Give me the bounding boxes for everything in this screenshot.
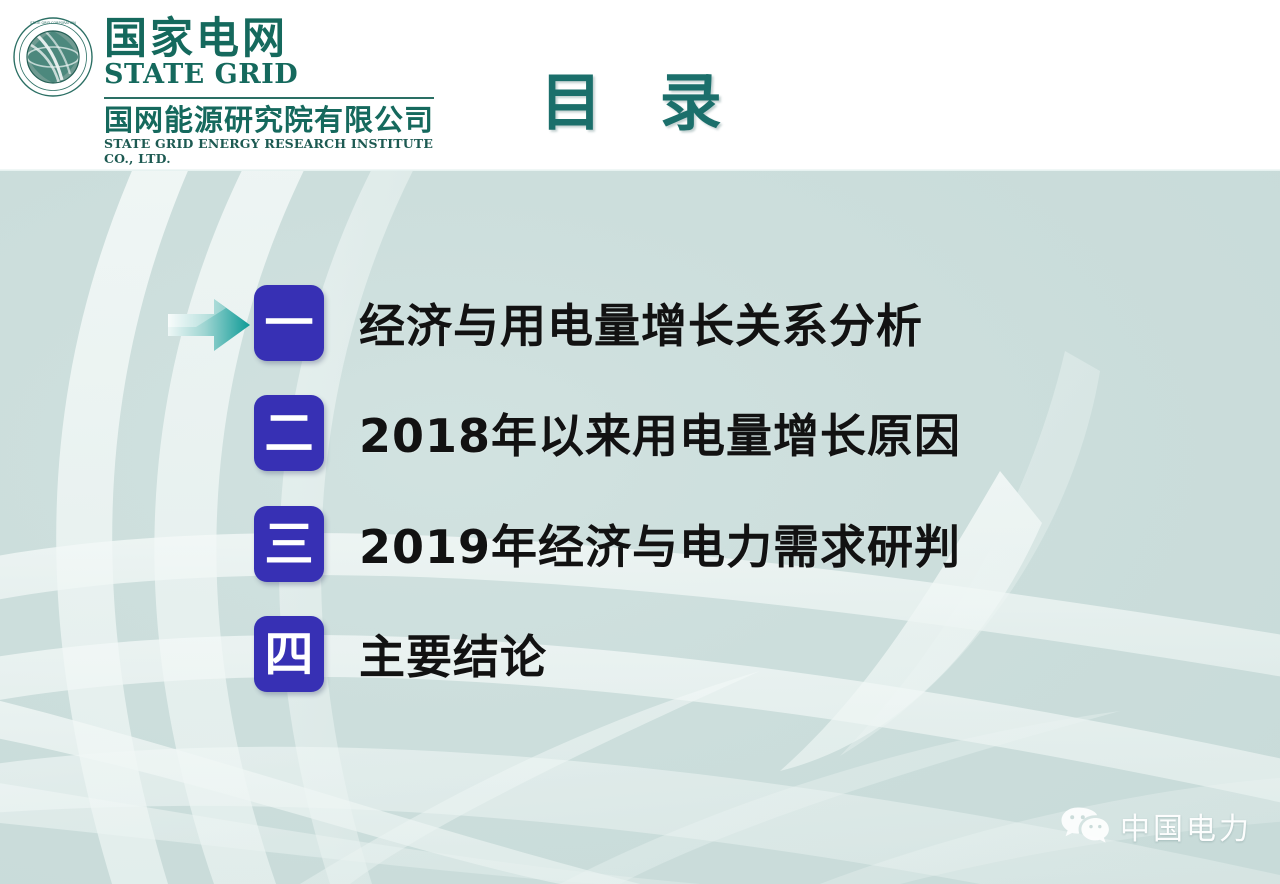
toc-number-badge-2: 二 [254, 395, 324, 471]
wechat-icon [1059, 805, 1109, 847]
toc-item-1[interactable]: 一 经济与用电量增长关系分析 [166, 277, 923, 369]
toc-label-1: 经济与用电量增长关系分析 [359, 290, 923, 356]
svg-text:STATE GRID CORPORATION: STATE GRID CORPORATION [30, 21, 76, 25]
toc-item-2[interactable]: 二 2018年以来用电量增长原因 [166, 387, 961, 479]
toc-item-3[interactable]: 三 2019年经济与电力需求研判 [166, 498, 961, 590]
presentation-slide: STATE GRID CORPORATION 国家电网 STATE GRID 国… [0, 0, 1280, 884]
watermark-text: 中国电力 [1120, 804, 1252, 848]
wechat-watermark: 中国电力 [1059, 804, 1252, 848]
table-of-contents: 一 经济与用电量增长关系分析 二 2018年以来用电量增长原因 三 2019年经… [0, 171, 1280, 884]
company-name-en: STATE GRID [104, 59, 440, 90]
institute-name-en: STATE GRID ENERGY RESEARCH INSTITUTE CO.… [104, 136, 440, 166]
pointer-arrow-placeholder-4 [166, 617, 252, 691]
toc-label-2: 2018年以来用电量增长原因 [359, 400, 961, 466]
toc-item-4[interactable]: 四 主要结论 [166, 608, 547, 700]
state-grid-globe-emblem-icon: STATE GRID CORPORATION [12, 16, 94, 98]
toc-label-3: 2019年经济与电力需求研判 [359, 511, 961, 577]
toc-number-badge-3: 三 [254, 506, 324, 582]
logo-divider [104, 97, 434, 99]
slide-header: STATE GRID CORPORATION 国家电网 STATE GRID 国… [0, 0, 1280, 171]
company-name-cn: 国家电网 [104, 18, 440, 61]
toc-label-4: 主要结论 [359, 621, 547, 687]
pointer-arrow-placeholder-2 [166, 396, 252, 470]
header-divider [0, 169, 1280, 171]
institute-name-cn: 国网能源研究院有限公司 [104, 105, 440, 135]
pointer-arrow-placeholder-3 [166, 507, 252, 581]
logo-text-block: 国家电网 STATE GRID 国网能源研究院有限公司 STATE GRID E… [104, 18, 440, 166]
page-title: 目 录 [540, 52, 740, 142]
active-pointer-arrow-icon [166, 286, 252, 360]
toc-number-badge-4: 四 [254, 616, 324, 692]
toc-number-badge-1: 一 [254, 285, 324, 361]
